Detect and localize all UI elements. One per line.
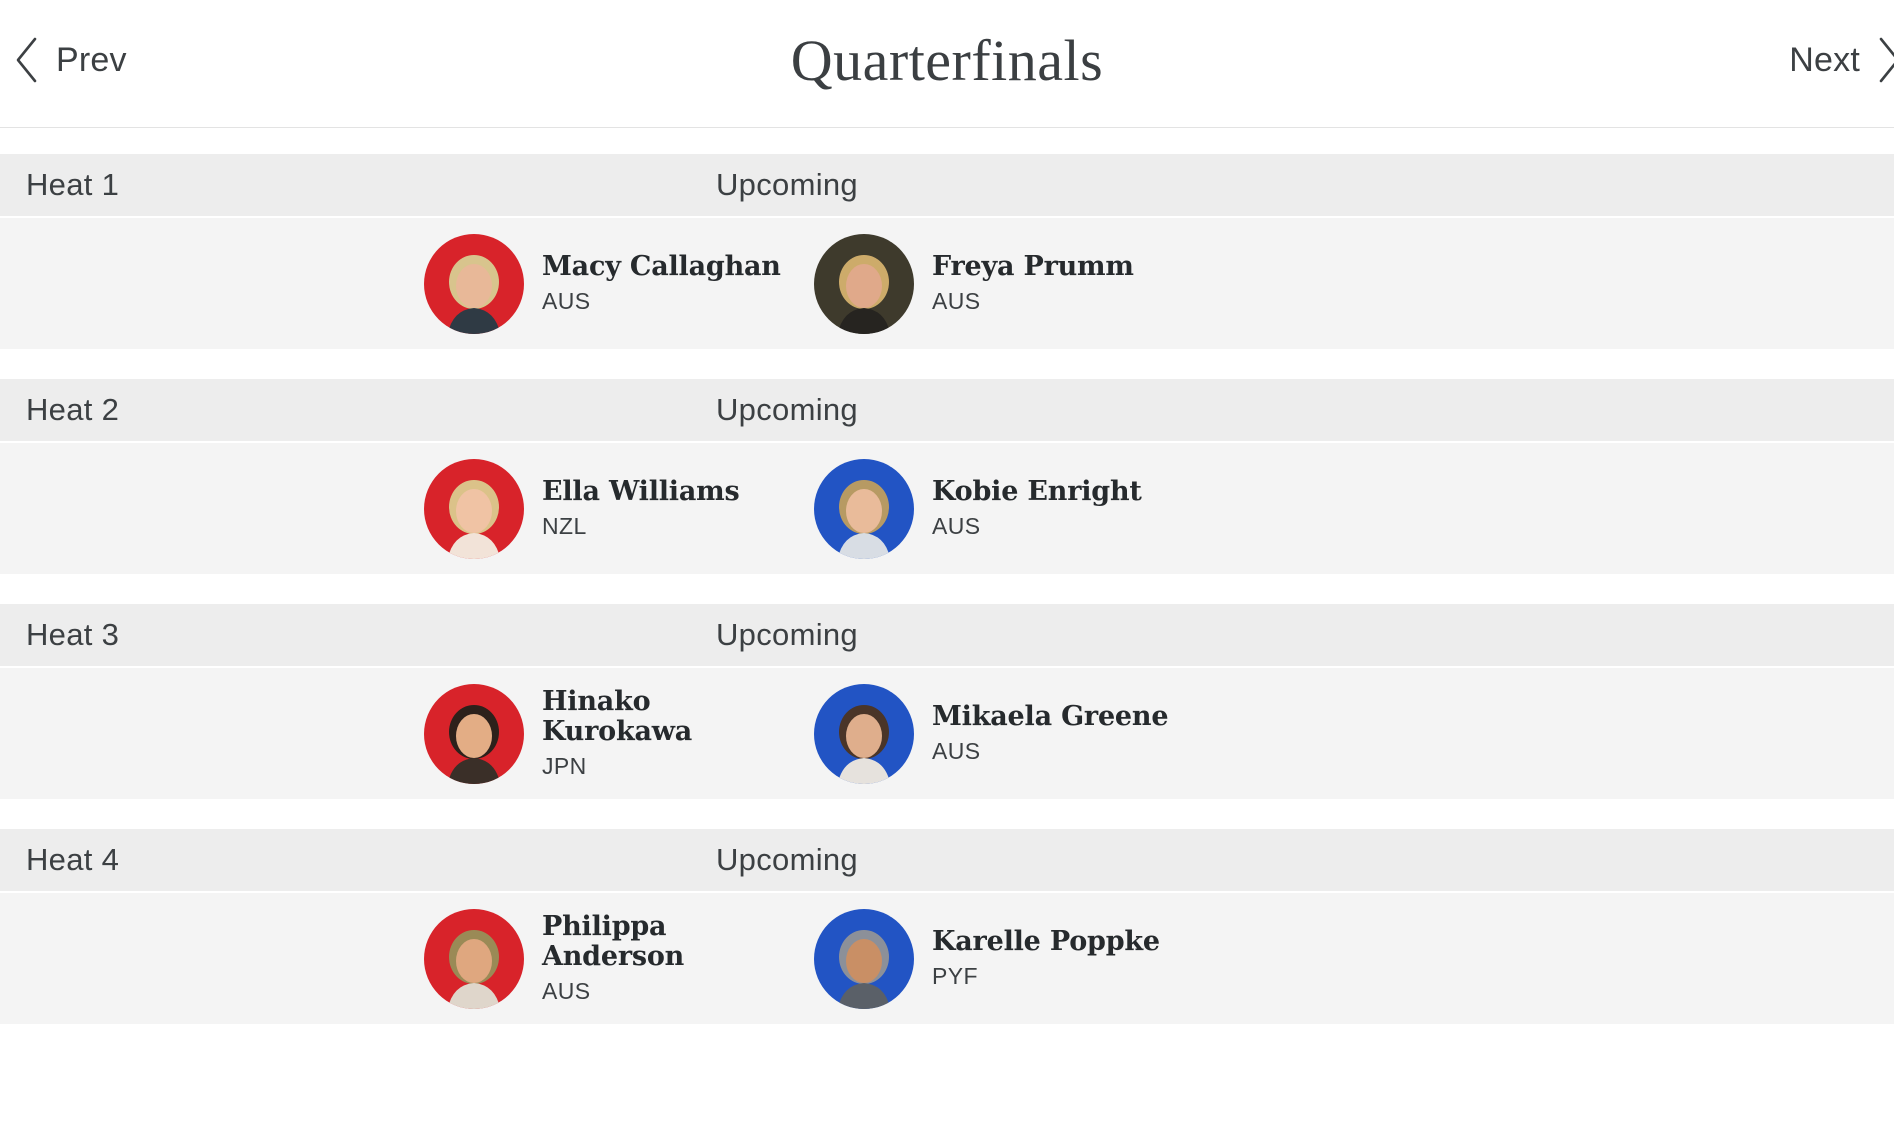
heat-athletes: Philippa AndersonAUSKarelle PoppkePYF [0,891,1894,1024]
athlete-text: Kobie EnrightAUS [932,477,1142,540]
athlete-name: Ella Williams [542,477,740,507]
avatar [814,909,914,1009]
athlete-text: Freya PrummAUS [932,252,1134,315]
page-title: Quarterfinals [0,32,1894,96]
heat-athletes: Macy CallaghanAUSFreya PrummAUS [0,216,1894,349]
athlete-text: Macy CallaghanAUS [542,252,781,315]
athlete-name: Hinako Kurokawa [542,687,792,747]
athlete[interactable]: Kobie EnrightAUS [814,459,1284,559]
heat-label: Heat 2 [26,392,716,428]
heat-header: Heat 3Upcoming [0,604,1894,666]
heat-list: Heat 1UpcomingMacy CallaghanAUSFreya Pru… [0,128,1894,1024]
heat-block[interactable]: Heat 4UpcomingPhilippa AndersonAUSKarell… [0,829,1894,1024]
avatar [424,909,524,1009]
prev-button[interactable]: Prev [14,36,127,84]
athlete[interactable]: Mikaela GreeneAUS [814,684,1284,784]
avatar [814,459,914,559]
athlete[interactable]: Karelle PoppkePYF [814,909,1284,1009]
athlete-name: Freya Prumm [932,252,1134,282]
next-button[interactable]: Next [1789,36,1894,84]
avatar [814,234,914,334]
athlete-name: Kobie Enright [932,477,1142,507]
athlete-country: AUS [542,979,792,1005]
heat-status: Upcoming [716,617,858,653]
athlete-text: Ella WilliamsNZL [542,477,740,540]
athlete-country: NZL [542,514,740,540]
athlete-text: Philippa AndersonAUS [542,912,792,1005]
page-header: Prev Quarterfinals Next [0,0,1894,128]
heat-status: Upcoming [716,167,858,203]
athlete-country: AUS [932,514,1142,540]
athlete-country: PYF [932,964,1160,990]
heat-athletes: Ella WilliamsNZLKobie EnrightAUS [0,441,1894,574]
chevron-left-icon [14,36,40,84]
heat-header: Heat 1Upcoming [0,154,1894,216]
prev-label: Prev [56,41,127,80]
heat-header: Heat 2Upcoming [0,379,1894,441]
heat-status: Upcoming [716,842,858,878]
athlete-text: Mikaela GreeneAUS [932,702,1168,765]
athlete-country: AUS [542,289,781,315]
heat-block[interactable]: Heat 1UpcomingMacy CallaghanAUSFreya Pru… [0,154,1894,349]
athlete-text: Hinako KurokawaJPN [542,687,792,780]
heat-block[interactable]: Heat 2UpcomingElla WilliamsNZLKobie Enri… [0,379,1894,574]
heat-status: Upcoming [716,392,858,428]
avatar [424,459,524,559]
heat-label: Heat 4 [26,842,716,878]
athlete-country: JPN [542,754,792,780]
avatar [424,684,524,784]
athlete-name: Philippa Anderson [542,912,792,972]
heat-label: Heat 1 [26,167,716,203]
athlete-name: Mikaela Greene [932,702,1168,732]
chevron-right-icon [1876,36,1894,84]
avatar [424,234,524,334]
heat-label: Heat 3 [26,617,716,653]
athlete-name: Macy Callaghan [542,252,781,282]
athlete-country: AUS [932,739,1168,765]
heat-athletes: Hinako KurokawaJPNMikaela GreeneAUS [0,666,1894,799]
athlete-text: Karelle PoppkePYF [932,927,1160,990]
heat-block[interactable]: Heat 3UpcomingHinako KurokawaJPNMikaela … [0,604,1894,799]
athlete[interactable]: Freya PrummAUS [814,234,1284,334]
athlete-name: Karelle Poppke [932,927,1160,957]
avatar [814,684,914,784]
athlete-country: AUS [932,289,1134,315]
next-label: Next [1789,41,1860,80]
heat-header: Heat 4Upcoming [0,829,1894,891]
